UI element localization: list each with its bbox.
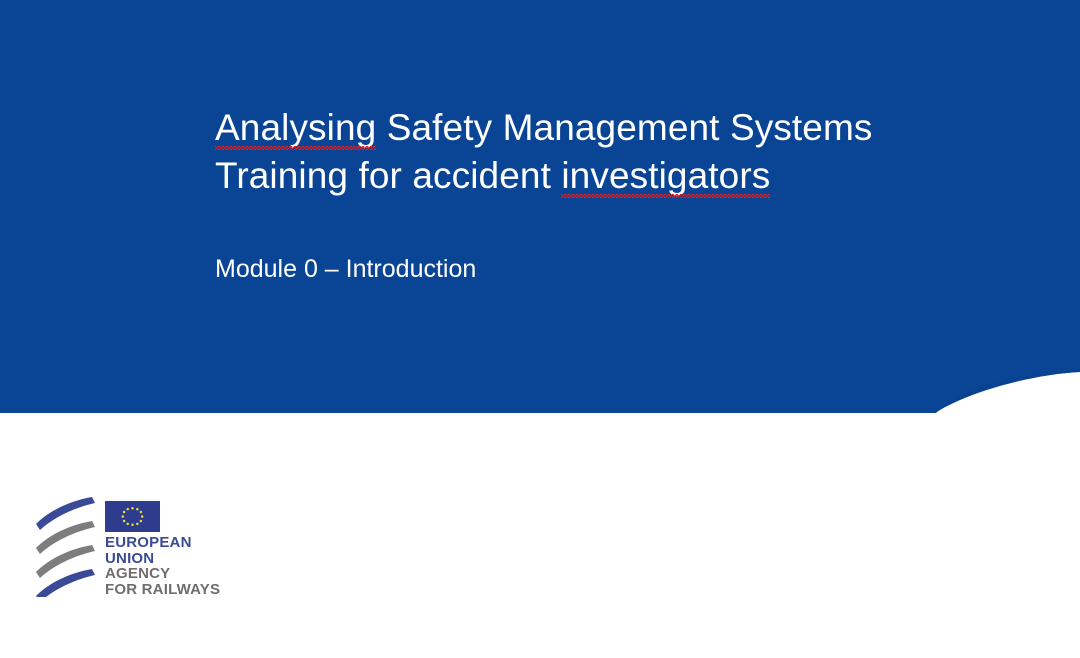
title-line-1: Analysing Safety Management Systems [215,104,975,152]
logo-word-agency: AGENCY [105,566,238,582]
rail-lines-mark-icon [33,497,99,597]
european-union-flag-icon [105,501,160,532]
misspelled-word-investigators: investigators [561,152,770,200]
logo-word-for-railways: FOR RAILWAYS [105,582,238,598]
title-slide: Analysing Safety Management Systems Trai… [0,0,1080,658]
misspelled-word-analysing: Analysing [215,104,376,152]
logo-text-group: EUROPEAN UNION AGENCY FOR RAILWAYS [105,497,238,597]
logo-wordmark: EUROPEAN UNION AGENCY FOR RAILWAYS [105,535,238,597]
banner-shape [0,0,1080,413]
logo-word-union: UNION [105,551,238,567]
era-logo: EUROPEAN UNION AGENCY FOR RAILWAYS [33,497,238,597]
slide-subtitle: Module 0 – Introduction [215,254,476,284]
blue-banner-panel [0,0,1080,420]
logo-word-european: EUROPEAN [105,535,238,551]
slide-title: Analysing Safety Management Systems Trai… [215,104,975,200]
title-line-1-rest: Safety Management Systems [376,107,872,148]
title-line-2-lead: Training for accident [215,155,561,196]
title-line-2: Training for accident investigators [215,152,975,200]
